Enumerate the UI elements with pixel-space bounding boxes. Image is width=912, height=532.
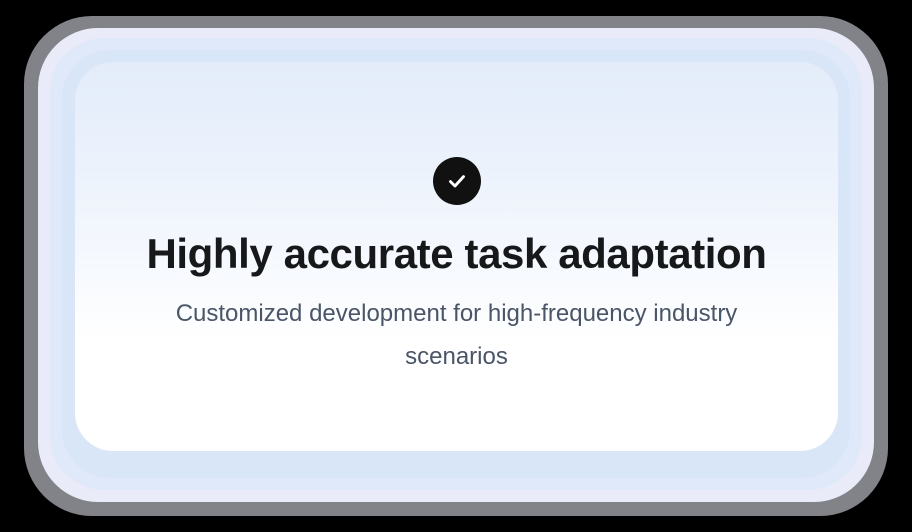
check-circle-icon [433, 157, 481, 205]
card-title: Highly accurate task adaptation [146, 232, 766, 276]
feature-card-stage: Highly accurate task adaptation Customiz… [0, 0, 912, 532]
card-subtitle: Customized development for high-frequenc… [157, 293, 757, 378]
feature-card: Highly accurate task adaptation Customiz… [75, 62, 838, 451]
